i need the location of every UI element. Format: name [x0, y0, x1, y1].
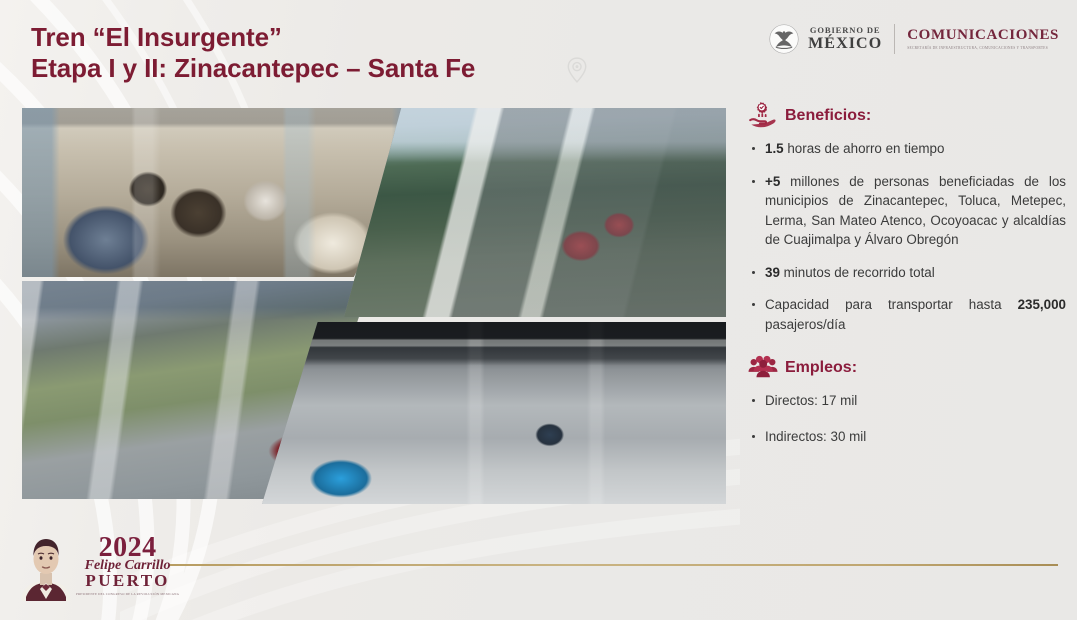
- jobs-title: Empleos:: [785, 356, 857, 378]
- badge-text-block: 2024 Felipe Carrillo PUERTO PRESIDENTE D…: [76, 534, 179, 597]
- commemorative-badge: 2024 Felipe Carrillo PUERTO PRESIDENTE D…: [18, 528, 196, 602]
- benefit-lead-0: 1.5: [765, 141, 784, 156]
- badge-surname: PUERTO: [85, 572, 169, 589]
- felipe-carrillo-puerto-portrait: [18, 529, 74, 601]
- benefit-text-1: millones de personas beneficiadas de los…: [765, 174, 1066, 248]
- gob-big-text: MÉXICO: [808, 36, 882, 52]
- photo-viaduct-highway: [344, 108, 726, 317]
- title-line-2: Etapa I y II: Zinacantepec – Santa Fe: [31, 53, 475, 84]
- government-wordmark: GOBIERNO DE MÉXICO: [808, 26, 882, 52]
- badge-subtitle: PRESIDENTE DEL CONGRESO DE LA REVOLUCIÓN…: [76, 592, 179, 597]
- title-line-1: Tren “El Insurgente”: [31, 22, 475, 53]
- page-title: Tren “El Insurgente” Etapa I y II: Zinac…: [31, 22, 475, 84]
- benefit-text-0: horas de ahorro en tiempo: [784, 141, 945, 156]
- benefit-text-3: Capacidad para transportar hasta: [765, 297, 1018, 312]
- job-text-1: Indirectos: 30 mil: [765, 429, 866, 444]
- benefits-title: Beneficios:: [785, 104, 871, 126]
- hand-holding-medal-icon: [748, 100, 778, 130]
- secretary-wordmark: COMUNICACIONES SECRETARÍA DE INFRAESTRUC…: [907, 28, 1059, 50]
- list-item: Capacidad para transportar hasta 235,000…: [748, 295, 1066, 334]
- benefit-lead-3b: 235,000: [1018, 297, 1066, 312]
- group-of-people-icon: [748, 352, 778, 382]
- gob-small-text: GOBIERNO DE: [810, 26, 881, 35]
- secretary-subtitle: SECRETARÍA DE INFRAESTRUCTURA, COMUNICAC…: [907, 46, 1059, 50]
- job-text-0: Directos: 17 mil: [765, 393, 857, 408]
- benefit-text-3b: pasajeros/día: [765, 317, 845, 332]
- location-pin-watermark-icon: [566, 57, 588, 83]
- logo-divider: [894, 24, 895, 54]
- list-item: Indirectos: 30 mil: [748, 427, 1066, 447]
- photo-control-room-image: [262, 322, 726, 504]
- photo-viaduct-highway-image: [344, 108, 726, 317]
- jobs-list: Directos: 17 mil Indirectos: 30 mil: [748, 391, 1066, 446]
- list-item: 1.5 horas de ahorro en tiempo: [748, 139, 1066, 159]
- content-column: Beneficios: 1.5 horas de ahorro en tiemp…: [748, 104, 1066, 462]
- presentation-slide: Tren “El Insurgente” Etapa I y II: Zinac…: [0, 0, 1077, 620]
- list-item: +5 millones de personas beneficiadas de …: [748, 172, 1066, 250]
- list-item: 39 minutos de recorrido total: [748, 263, 1066, 283]
- benefits-header: Beneficios:: [748, 104, 1066, 130]
- section-benefits: Beneficios: 1.5 horas de ahorro en tiemp…: [748, 104, 1066, 334]
- photo-control-room: [262, 322, 726, 504]
- jobs-header: Empleos:: [748, 356, 1066, 382]
- photo-collage: [0, 92, 740, 520]
- list-item: Directos: 17 mil: [748, 391, 1066, 411]
- benefit-lead-2: 39: [765, 265, 780, 280]
- mexican-eagle-emblem-icon: [769, 24, 799, 54]
- government-logo: GOBIERNO DE MÉXICO COMUNICACIONES SECRET…: [769, 24, 1059, 54]
- footer-divider: [170, 564, 1058, 566]
- benefit-lead-1: +5: [765, 174, 780, 189]
- secretary-name: COMUNICACIONES: [907, 28, 1059, 43]
- benefits-list: 1.5 horas de ahorro en tiempo +5 millone…: [748, 139, 1066, 334]
- benefit-text-2: minutos de recorrido total: [780, 265, 935, 280]
- section-jobs: Empleos: Directos: 17 mil Indirectos: 30…: [748, 356, 1066, 446]
